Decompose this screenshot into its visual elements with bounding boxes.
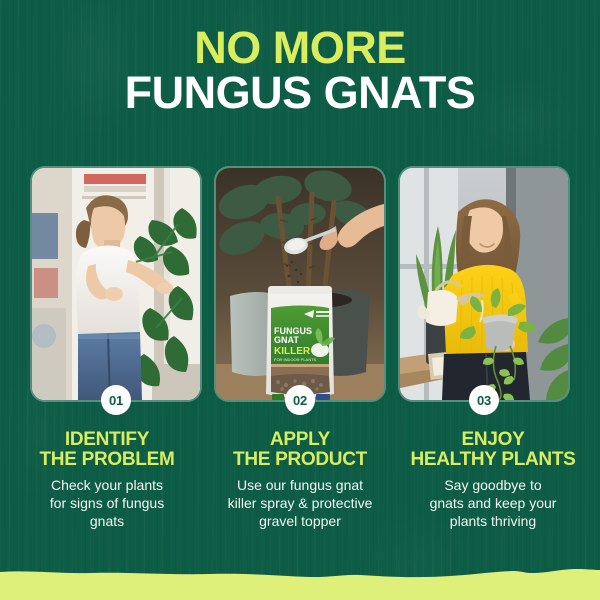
caption-body-2: Use our fungus gnat killer spray & prote… xyxy=(207,477,393,531)
step-card-1[interactable]: 01 xyxy=(32,168,200,400)
step-card-3[interactable]: 03 xyxy=(400,168,568,400)
svg-text:KILLER: KILLER xyxy=(274,346,311,357)
headline-line-1: NO MORE xyxy=(0,26,600,69)
step-photo-2: FUNGUS GNAT KILLER FOR INDOOR PLANTS xyxy=(216,168,384,400)
captions-row: IDENTIFY THE PROBLEM Check your plants f… xyxy=(14,430,586,531)
step-badge-3: 03 xyxy=(469,385,499,415)
caption-1: IDENTIFY THE PROBLEM Check your plants f… xyxy=(14,430,200,531)
caption-title-2: APPLY THE PRODUCT xyxy=(207,430,393,470)
caption-title-1: IDENTIFY THE PROBLEM xyxy=(14,430,200,470)
caption-3: ENJOY HEALTHY PLANTS Say goodbye to gnat… xyxy=(400,430,586,531)
bottom-lime-band xyxy=(0,560,600,600)
svg-text:GNAT: GNAT xyxy=(274,335,299,345)
headline: NO MORE FUNGUS GNATS xyxy=(0,26,600,114)
headline-line-2: FUNGUS GNATS xyxy=(0,71,600,114)
step-badge-1: 01 xyxy=(101,385,131,415)
caption-body-1: Check your plants for signs of fungus gn… xyxy=(14,477,200,531)
step-cards-row: 01 xyxy=(32,168,568,400)
step-photo-1 xyxy=(32,168,200,400)
step-card-2[interactable]: FUNGUS GNAT KILLER FOR INDOOR PLANTS xyxy=(216,168,384,400)
svg-text:FOR INDOOR PLANTS: FOR INDOOR PLANTS xyxy=(274,357,317,362)
step-badge-2: 02 xyxy=(285,385,315,415)
poster-infographic: NO MORE FUNGUS GNATS xyxy=(0,0,600,600)
caption-title-3: ENJOY HEALTHY PLANTS xyxy=(400,430,586,470)
step-photo-3 xyxy=(400,168,568,400)
caption-body-3: Say goodbye to gnats and keep your plant… xyxy=(400,477,586,531)
caption-2: APPLY THE PRODUCT Use our fungus gnat ki… xyxy=(207,430,393,531)
